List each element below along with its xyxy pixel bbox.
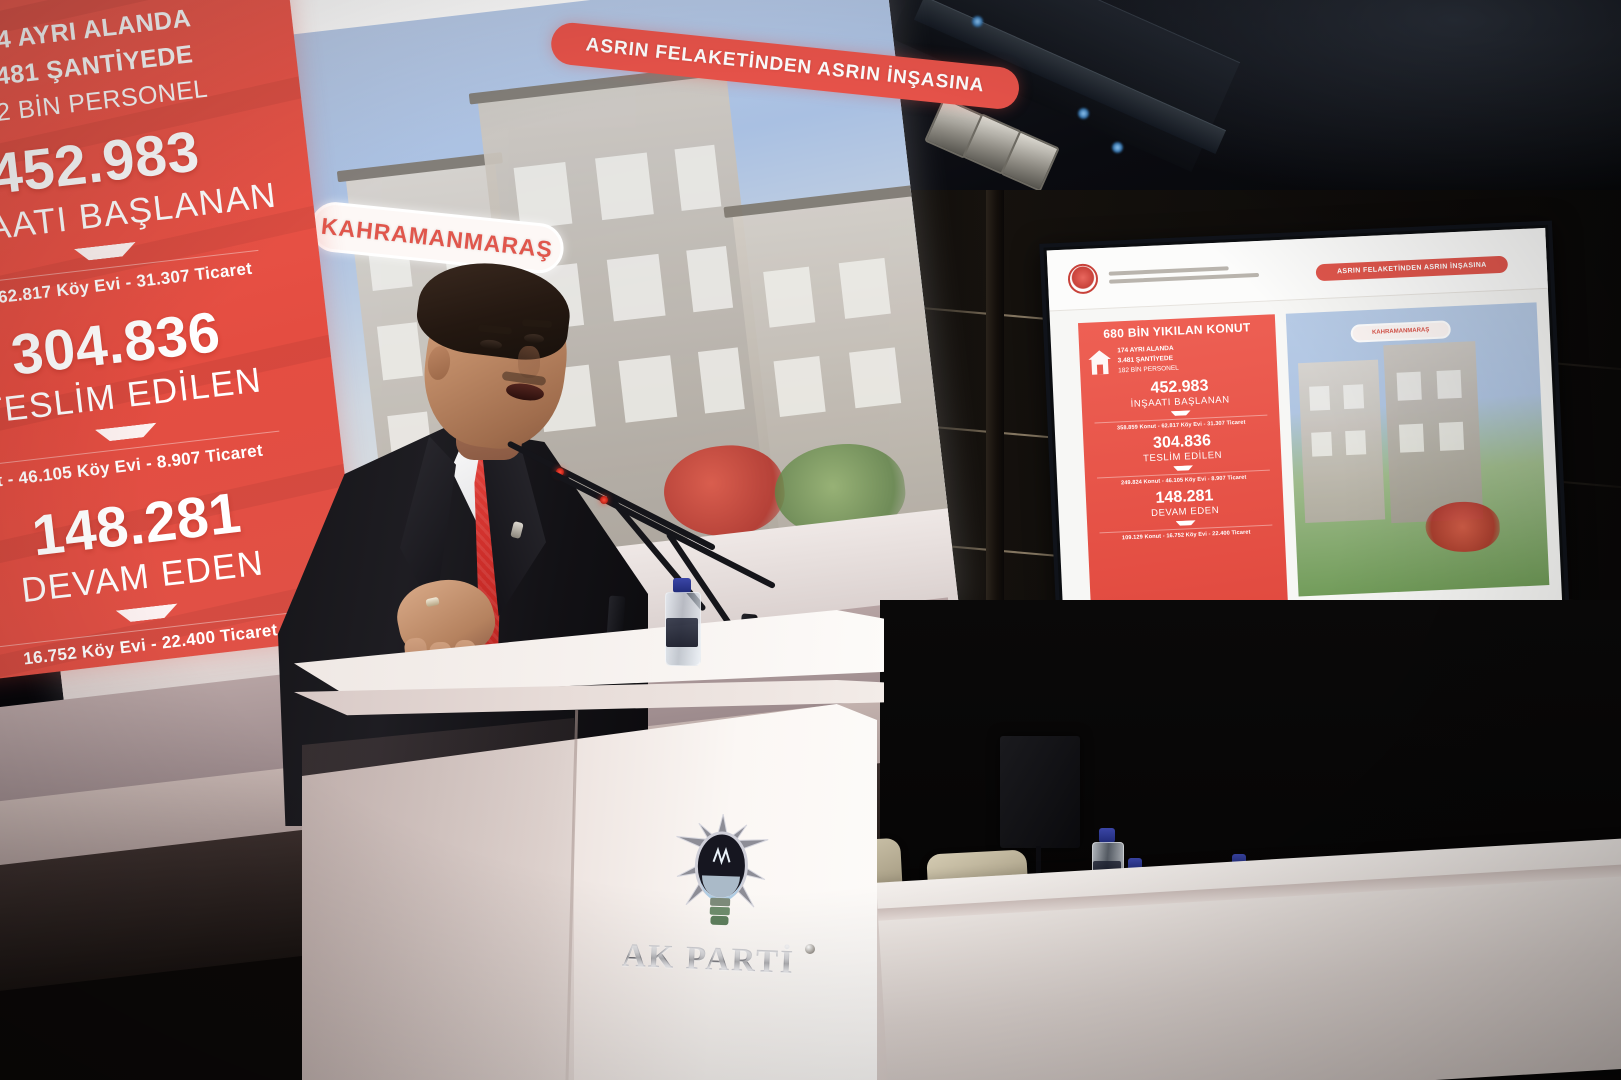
ministry-emblem-icon — [1067, 263, 1098, 294]
tv-slide-photo — [1286, 302, 1550, 596]
ceiling-blue-led-1 — [972, 16, 983, 27]
bottle-cap — [1099, 828, 1115, 843]
tv-stats-subtitles: 174 AYRI ALANDA 3.481 ŞANTİYEDE 182 BİN … — [1117, 344, 1179, 377]
house-icon — [1087, 348, 1112, 376]
ministry-name-placeholder — [1109, 265, 1259, 284]
wall-tv-display: 680 BİN YIKILAN KONUT 174 AYRI ALANDA 3.… — [1039, 221, 1569, 637]
pa-speaker-box — [1000, 736, 1080, 848]
ceiling-blue-led-3 — [1112, 142, 1123, 153]
podium-shaded-face — [302, 718, 574, 1080]
ak-parti-lightbulb-icon — [673, 812, 769, 941]
podium-screw — [805, 944, 815, 954]
tv-stats-detail-3: 109.129 Konut - 16.752 Köy Evi - 22.400 … — [1088, 528, 1285, 543]
tv-screen-content: 680 BİN YIKILAN KONUT 174 AYRI ALANDA 3.… — [1047, 228, 1563, 629]
tv-stats-panel: 680 BİN YIKILAN KONUT 174 AYRI ALANDA 3.… — [1078, 314, 1288, 621]
bottle-label — [666, 618, 697, 647]
caret-icon — [1171, 410, 1191, 416]
bottle-cap — [673, 578, 691, 593]
tv-building — [1383, 341, 1483, 523]
tv-subtitle-3: 182 BİN PERSONEL — [1118, 364, 1179, 377]
mic-led-indicator — [600, 496, 608, 504]
caret-icon — [1176, 520, 1196, 526]
ceiling-blue-led-2 — [1078, 108, 1089, 119]
tv-building — [1298, 360, 1385, 523]
speaking-podium: AK PARTİ — [290, 592, 890, 1080]
screenshot-root: ASRIN FELAKETİNDEN ASRIN İNŞASINA KAHRAM… — [0, 0, 1621, 1080]
caret-icon — [1173, 465, 1193, 471]
podium-water-bottle — [665, 578, 699, 664]
tv-flowerbed — [1425, 500, 1501, 553]
